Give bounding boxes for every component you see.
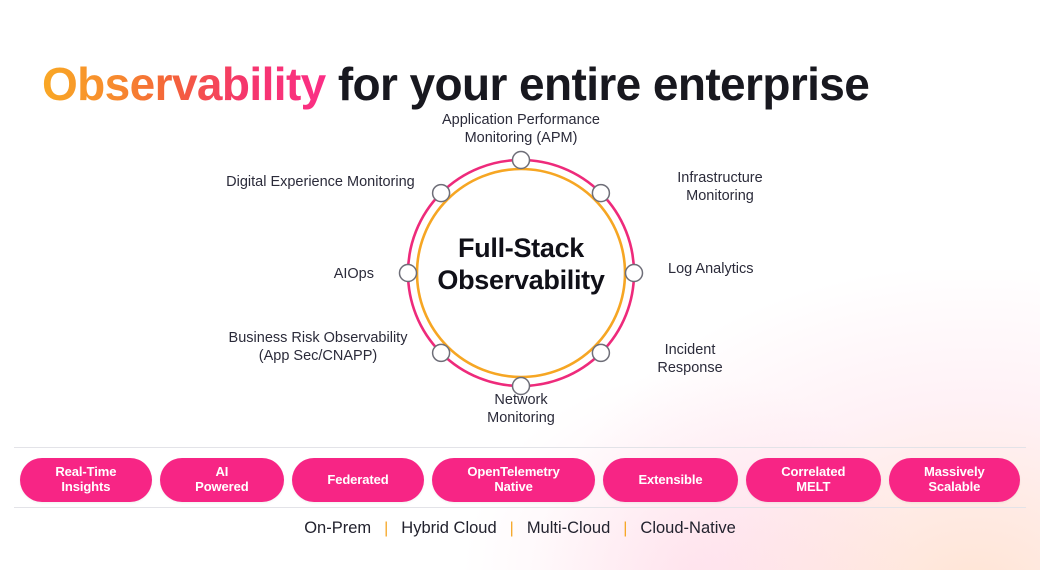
deployment-separator: | [623,521,627,537]
capability-pill[interactable]: Real-Time Insights [20,458,152,502]
capability-pill[interactable]: AI Powered [160,458,284,502]
node-label: Application Performance Monitoring (APM) [391,112,651,147]
deployment-options-row: On-Prem|Hybrid Cloud|Multi-Cloud|Cloud-N… [0,519,1040,538]
center-label-line1: Full-Stack [408,233,634,265]
capability-pill[interactable]: Correlated MELT [746,458,881,502]
deployment-option[interactable]: Hybrid Cloud [401,519,496,538]
node-label: Business Risk Observability (App Sec/CNA… [188,330,448,365]
deployment-separator: | [510,521,514,537]
node-label: Network Monitoring [391,392,651,427]
node-dot[interactable] [433,185,450,202]
capability-pill[interactable]: Federated [292,458,424,502]
center-label-line2: Observability [408,265,634,297]
node-dot[interactable] [513,152,530,169]
divider-below-capabilities [14,507,1026,508]
node-label: Infrastructure Monitoring [590,170,850,205]
diagram-center-label: Full-Stack Observability [408,233,634,297]
capability-pill[interactable]: Extensible [603,458,738,502]
deployment-option[interactable]: On-Prem [304,519,371,538]
node-label: Log Analytics [668,261,753,279]
capability-pill[interactable]: Massively Scalable [889,458,1020,502]
deployment-option[interactable]: Multi-Cloud [527,519,610,538]
deployment-option[interactable]: Cloud-Native [640,519,735,538]
slide-canvas: Observability for your entire enterprise… [0,0,1040,570]
capability-pill[interactable]: OpenTelemetry Native [432,458,595,502]
divider-above-capabilities [14,447,1026,448]
deployment-separator: | [384,521,388,537]
node-label: Digital Experience Monitoring [226,174,415,192]
node-label: AIOps [334,266,374,284]
capability-pill-row: Real-Time InsightsAI PoweredFederatedOpe… [20,458,1020,502]
node-label: Incident Response [560,342,820,377]
observability-circle-diagram: Full-Stack Observability Application Per… [0,98,1040,438]
